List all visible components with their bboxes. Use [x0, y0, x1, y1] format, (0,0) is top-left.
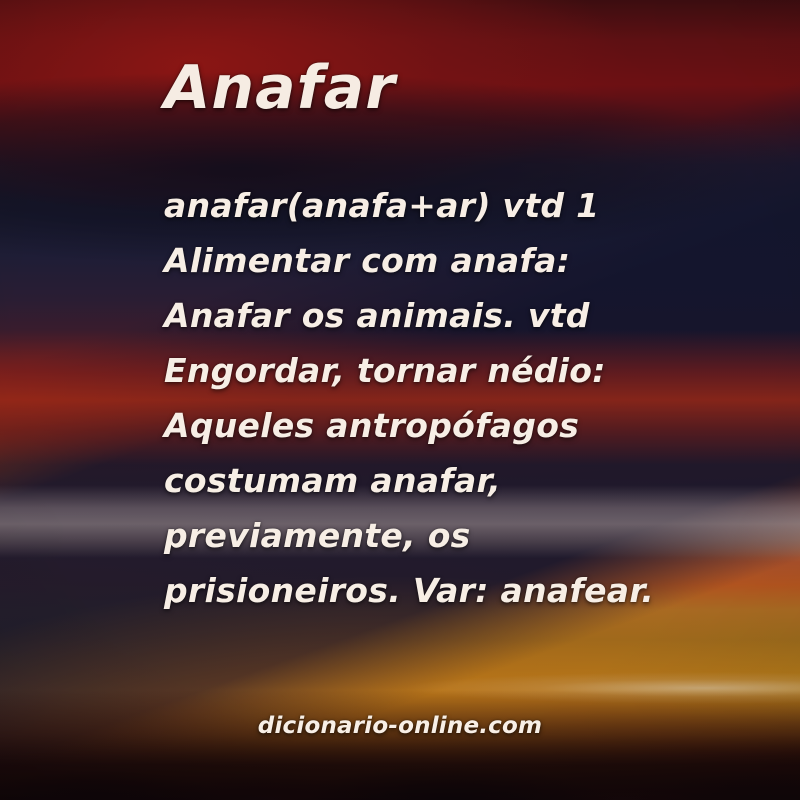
definition-line: Anafar os animais. vtd [164, 288, 784, 343]
definition-line: Engordar, tornar nédio: [164, 343, 784, 398]
dictionary-definition-card: Anafar anafar(anafa+ar) vtd 1 Alimentar … [0, 0, 800, 800]
definition-line: Aqueles antropófagos [164, 398, 784, 453]
definition-line: anafar(anafa+ar) vtd 1 [164, 178, 784, 233]
definition-line: previamente, os [164, 508, 784, 563]
card-content: Anafar anafar(anafa+ar) vtd 1 Alimentar … [0, 0, 800, 800]
headword-title: Anafar [164, 58, 396, 118]
definition-line: Alimentar com anafa: [164, 233, 784, 288]
definition-line: costumam anafar, [164, 453, 784, 508]
site-watermark: dicionario-online.com [0, 713, 800, 739]
definition-block: anafar(anafa+ar) vtd 1 Alimentar com ana… [164, 178, 784, 618]
definition-line: prisioneiros. Var: anafear. [164, 563, 784, 618]
